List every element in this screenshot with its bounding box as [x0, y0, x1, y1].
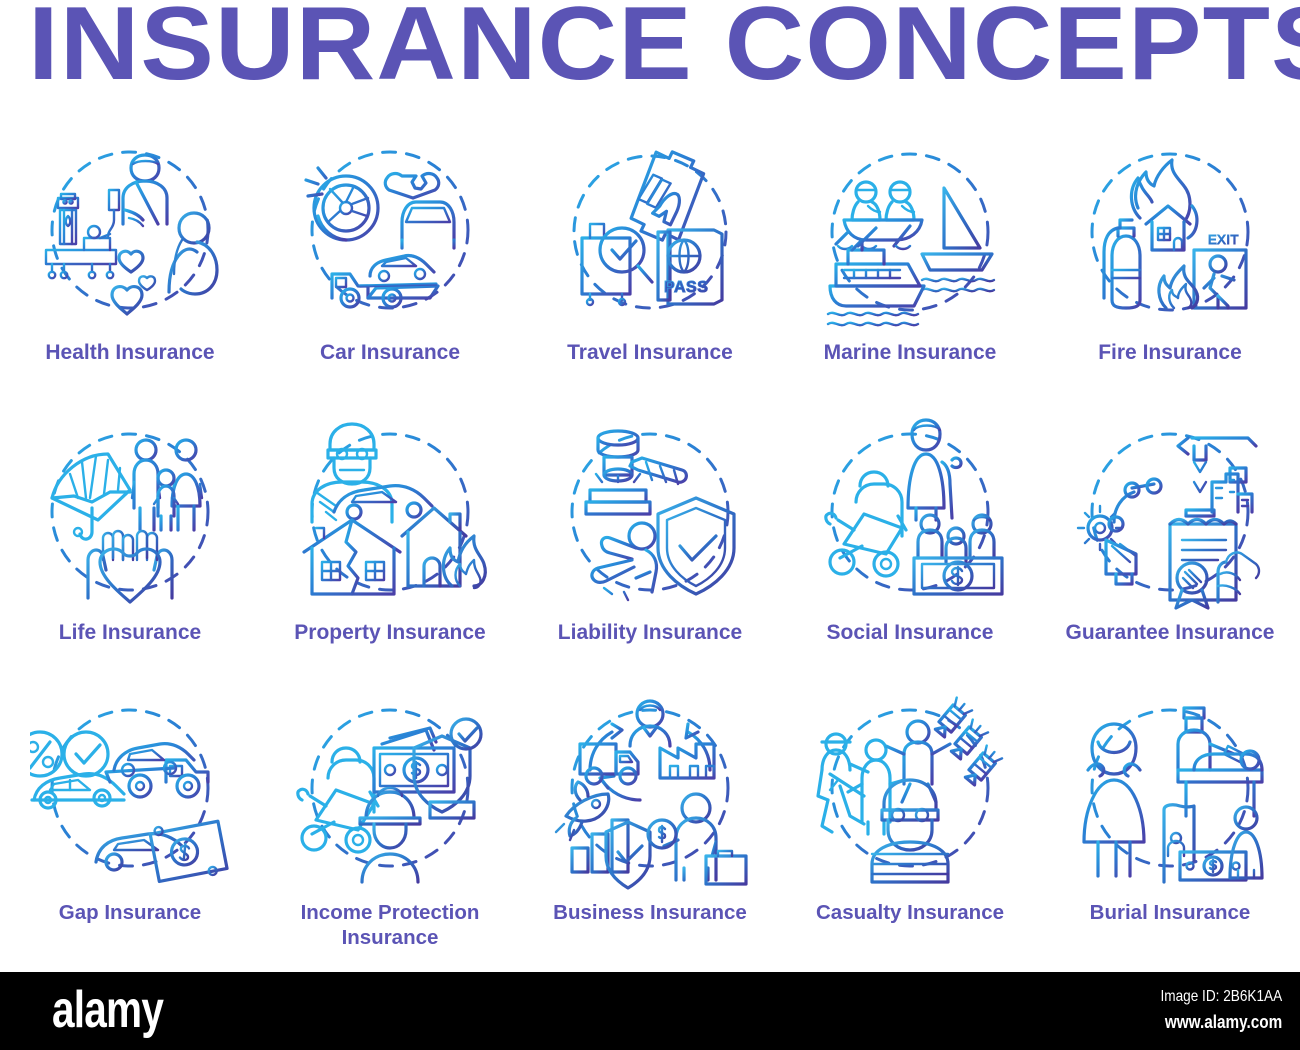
concept-card-life-insurance[interactable]: Life Insurance [0, 412, 260, 692]
concept-label: Marine Insurance [785, 340, 1035, 365]
concept-card-car-insurance[interactable]: Car Insurance [260, 132, 520, 412]
concept-label: Liability Insurance [525, 620, 775, 645]
travel-insurance-icon: PASS [550, 132, 750, 332]
concept-card-travel-insurance[interactable]: PASS Travel Insurance [520, 132, 780, 412]
guarantee-insurance-icon [1070, 412, 1270, 612]
concept-label: Business Insurance [525, 900, 775, 925]
concept-label: Casualty Insurance [785, 900, 1035, 925]
concept-label: Social Insurance [785, 620, 1035, 645]
business-insurance-icon [550, 692, 750, 892]
image-id-text: Image ID: 2B6K1AA [1160, 985, 1282, 1009]
watermark-meta: Image ID: 2B6K1AA www.alamy.com [1139, 985, 1282, 1035]
watermark-url: www.alamy.com [1160, 1009, 1282, 1035]
watermark-bar: alamy Image ID: 2B6K1AA www.alamy.com [0, 972, 1300, 1050]
property-insurance-icon [290, 412, 490, 612]
concept-card-burial-insurance[interactable]: Burial Insurance [1040, 692, 1300, 972]
burial-insurance-icon [1070, 692, 1270, 892]
marine-insurance-icon [810, 132, 1010, 332]
social-insurance-icon [810, 412, 1010, 612]
svg-text:PASS: PASS [664, 279, 708, 296]
concept-card-social-insurance[interactable]: Social Insurance [780, 412, 1040, 692]
concept-label: Health Insurance [5, 340, 255, 365]
casualty-insurance-icon [810, 692, 1010, 892]
concept-label: Income Protection Insurance [265, 900, 515, 950]
concept-card-guarantee-insurance[interactable]: Guarantee Insurance [1040, 412, 1300, 692]
concept-label: Property Insurance [265, 620, 515, 645]
page-title: INSURANCE CONCEPTS [28, 0, 1300, 94]
income-protection-insurance-icon [290, 692, 490, 892]
svg-text:EXIT: EXIT [1208, 232, 1239, 247]
concept-card-income-protection-insurance[interactable]: Income Protection Insurance [260, 692, 520, 972]
fire-insurance-icon: EXIT [1070, 132, 1270, 332]
concept-card-marine-insurance[interactable]: Marine Insurance [780, 132, 1040, 412]
concept-label: Guarantee Insurance [1045, 620, 1295, 645]
concept-grid: Health Insurance [0, 132, 1300, 972]
concept-card-business-insurance[interactable]: Business Insurance [520, 692, 780, 972]
concept-label: Travel Insurance [525, 340, 775, 365]
concept-label: Car Insurance [265, 340, 515, 365]
health-insurance-icon [30, 132, 230, 332]
concept-card-fire-insurance[interactable]: EXIT Fire Insurance [1040, 132, 1300, 412]
concept-card-property-insurance[interactable]: Property Insurance [260, 412, 520, 692]
concept-label: Fire Insurance [1045, 340, 1295, 365]
concept-card-health-insurance[interactable]: Health Insurance [0, 132, 260, 412]
car-insurance-icon [290, 132, 490, 332]
gap-insurance-icon [30, 692, 230, 892]
concept-label: Gap Insurance [5, 900, 255, 925]
concept-label: Life Insurance [5, 620, 255, 645]
life-insurance-icon [30, 412, 230, 612]
concept-card-gap-insurance[interactable]: Gap Insurance [0, 692, 260, 972]
liability-insurance-icon [550, 412, 750, 612]
poster-root: INSURANCE CONCEPTS [0, 0, 1300, 1050]
alamy-logo: alamy [52, 983, 163, 1037]
concept-label: Burial Insurance [1045, 900, 1295, 925]
concept-card-liability-insurance[interactable]: Liability Insurance [520, 412, 780, 692]
concept-card-casualty-insurance[interactable]: Casualty Insurance [780, 692, 1040, 972]
